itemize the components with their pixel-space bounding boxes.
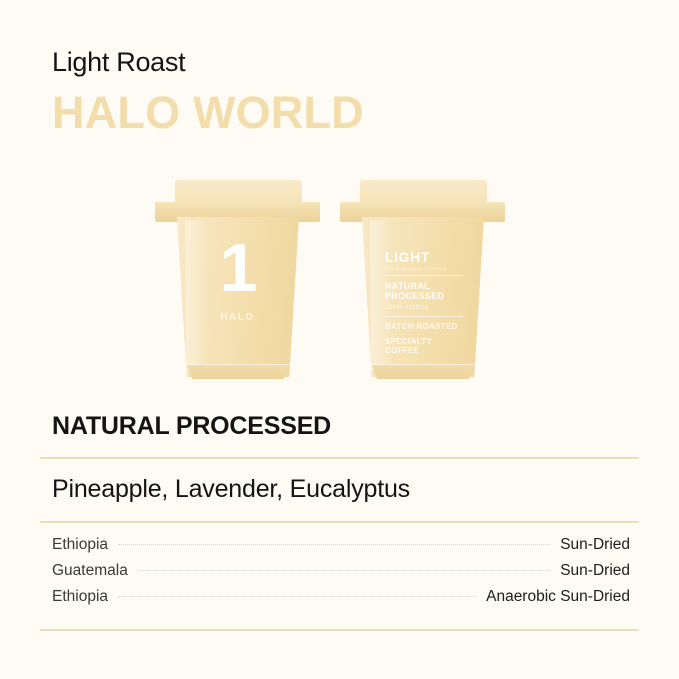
cup-label-block: LIGHT HALO WORLD COFFEE NATURAL PROCESSE… [385,250,463,356]
header: Light Roast HALO WORLD [52,48,364,136]
divider-middle [40,521,639,523]
cup-base [372,365,474,379]
origin-name: Ethiopia [52,536,108,554]
cup-process-label: NATURAL PROCESSED [385,281,463,301]
origin-method: Sun-Dried [560,562,630,580]
cup-base-line [185,364,291,365]
cup-sub-label: HALO [155,312,320,323]
origin-name: Guatemala [52,562,128,580]
origin-row: GuatemalaSun-Dried [52,562,630,588]
cup-roast-title: LIGHT [385,250,463,264]
cup-divider [385,275,463,276]
cup-base [187,365,289,379]
coffee-cup-front: 1 HALO [155,172,320,387]
origin-name: Ethiopia [52,588,108,606]
divider-top [40,457,639,459]
brand-title: HALO WORLD [52,89,364,136]
cup-divider-2 [385,316,463,317]
product-images: 1 HALO LIGHT HALO WORLD COFFEE NATURAL P… [0,172,679,390]
origin-list: EthiopiaSun-DriedGuatemalaSun-DriedEthio… [52,536,630,614]
origin-method: Anaerobic Sun-Dried [486,588,630,606]
origin-method: Sun-Dried [560,536,630,554]
cup-base-line [370,364,476,365]
cup-numeral: 1 [155,234,320,302]
divider-bottom [40,629,639,631]
cup-footer-line-2: SPECIALTY COFFEE [385,337,463,356]
leader-dots [118,596,476,597]
leader-dots [118,544,550,545]
leader-dots [138,570,550,571]
tasting-notes: Pineapple, Lavender, Eucalyptus [52,475,410,504]
cup-tagline: HALO WORLD COFFEE [385,266,463,271]
cup-blend-note: 100% Arabica [385,304,463,311]
product-card: Light Roast HALO WORLD 1 HALO LIGHT HALO… [0,0,679,679]
coffee-cup-back: LIGHT HALO WORLD COFFEE NATURAL PROCESSE… [340,172,505,387]
origin-row: EthiopiaAnaerobic Sun-Dried [52,588,630,614]
process-heading: NATURAL PROCESSED [52,412,331,441]
cup-footer-line-1: BATCH ROASTED [385,322,463,332]
origin-row: EthiopiaSun-Dried [52,536,630,562]
roast-level-label: Light Roast [52,48,364,78]
